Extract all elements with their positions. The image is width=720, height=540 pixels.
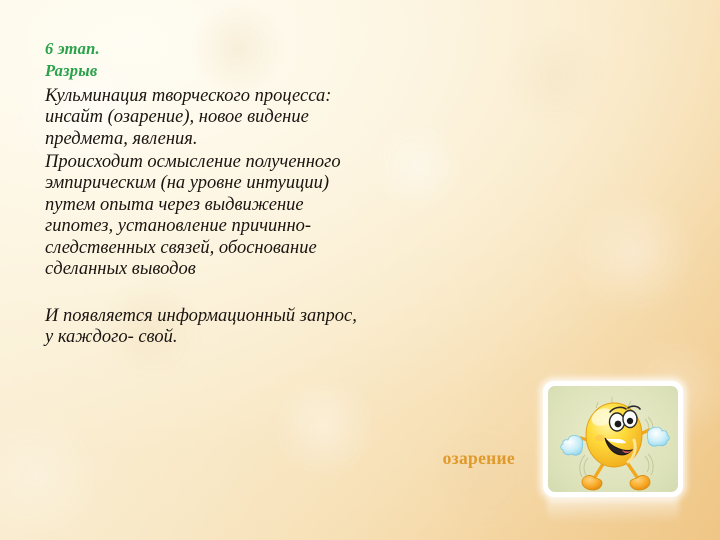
heading-line-2: Разрыв [45,60,515,82]
body-paragraph-3: И появляется информационный запрос, у ка… [45,306,515,349]
slide-text-body: 6 этап. Разрыв Кульминация творческого п… [45,38,515,349]
picture-canvas [548,386,678,492]
heading-line-1: 6 этап. [45,38,515,60]
body-paragraph-1: Кульминация творческого процесса: инсайт… [45,86,515,151]
accent-word-ozarenie: озарение [443,448,515,468]
picture-reflection [547,497,679,523]
dancing-smiley-picture [543,381,683,497]
slide-heading: 6 этап. Разрыв [45,38,515,82]
slide-canvas: 6 этап. Разрыв Кульминация творческого п… [0,0,720,540]
smiley-icon [548,386,678,492]
accent-word-row: озарение [45,448,515,469]
body-paragraph-2: Происходит осмысление полученного эмпири… [45,152,515,281]
